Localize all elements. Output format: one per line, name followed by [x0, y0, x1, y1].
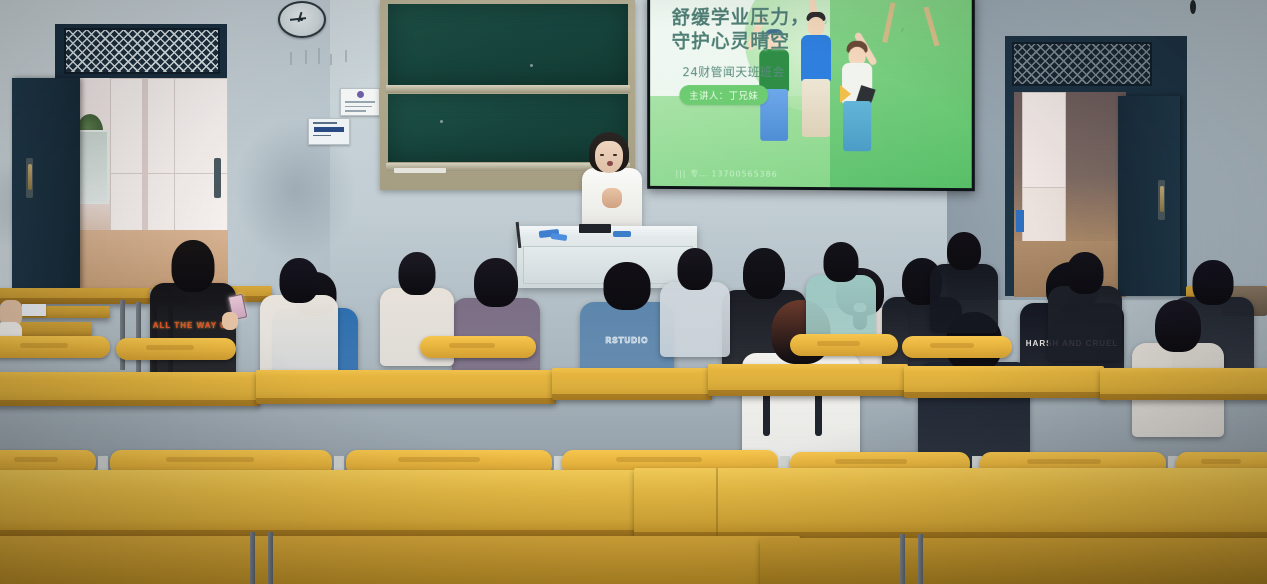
slide-title: 舒缓学业压力， 守护心灵晴空: [672, 5, 810, 53]
student-torso: [1048, 286, 1122, 361]
marker-icon: [551, 233, 568, 241]
student-torso: [660, 282, 730, 357]
right-transom-grille: [1012, 42, 1152, 86]
desk-underside-left: [0, 536, 800, 584]
student-torso: [150, 283, 236, 377]
desk-row-second: [0, 372, 260, 406]
empty-desk-back-left: [0, 288, 150, 304]
student-head: [399, 252, 436, 295]
wall-sign-placard: [308, 118, 350, 145]
projection-screen: ♪ ♪ ♪ 舒缓学业压力， 守护心灵晴空 24财管闻天班班会 主讲人：丁兄妹: [647, 0, 975, 191]
desk-row-front-left: [0, 470, 720, 536]
student-s3: [452, 258, 540, 380]
marker-icon: [613, 231, 631, 237]
student-head: [474, 258, 518, 307]
slide-subtitle: 24财管闻天班班会: [682, 63, 784, 80]
student-head: [743, 248, 785, 299]
student-torso: [930, 264, 998, 333]
bench-back: [902, 336, 1012, 358]
slide-figure-3: [836, 37, 878, 188]
student-head: [280, 258, 319, 303]
presenter-hands: [602, 188, 622, 208]
bench-back: [790, 334, 898, 356]
student-head: [1193, 260, 1234, 305]
desk-row-second: [552, 368, 712, 400]
desk-row-second: [256, 370, 556, 404]
classroom-photo: ♪ ♪ ♪ 舒缓学业压力， 守护心灵晴空 24财管闻天班班会 主讲人：丁兄妹: [0, 0, 1267, 584]
student-head: [1155, 300, 1201, 352]
wall-sign-notice: [340, 88, 380, 116]
student-s11: [260, 258, 338, 370]
desk-row-front-right: [634, 468, 1267, 538]
slide-footer-bars: |||: [676, 169, 687, 178]
student-s13: [660, 248, 730, 352]
student-head: [824, 242, 859, 282]
desk-underside-right: [760, 538, 1267, 584]
student-head: [1067, 252, 1104, 294]
ceiling-sensor-icon: [1190, 0, 1196, 14]
wall-clock-icon: [278, 1, 326, 38]
laptop-icon: [579, 224, 611, 233]
student-torso: [260, 295, 338, 376]
right-door-leaf[interactable]: [1118, 96, 1180, 296]
student-head: [678, 248, 713, 290]
chalk-tray: [394, 168, 446, 173]
presentation-slide: ♪ ♪ ♪ 舒缓学业压力， 守护心灵晴空 24财管闻天班班会 主讲人：丁兄妹: [650, 0, 972, 188]
student-s14: [806, 242, 876, 342]
left-transom-grille: [64, 28, 220, 74]
paper-on-desk: [22, 304, 46, 316]
left-door-leaf[interactable]: [12, 78, 80, 290]
slide-presenter-badge: 主讲人：丁兄妹: [679, 85, 768, 105]
student-s15: [930, 232, 998, 328]
student-head: [604, 262, 651, 310]
desk-row-second: [708, 364, 908, 396]
student-s16: [1048, 252, 1122, 356]
bench-back: [0, 336, 110, 358]
student-hand: [222, 312, 238, 330]
bench-back: [420, 336, 536, 358]
slide-footer: |||专… 13700565386: [676, 168, 778, 180]
student-s18: [1132, 300, 1224, 430]
student-head: [947, 232, 981, 270]
student-head: [172, 240, 215, 292]
slide-footer-text: 专… 13700565386: [690, 169, 777, 178]
left-door-latch: [214, 158, 221, 198]
bench-back: [116, 338, 236, 360]
desk-row-second: [904, 366, 1104, 398]
shirt-graphic-text: RSTUDIO: [606, 336, 649, 345]
desk-row-second: [1100, 368, 1267, 400]
